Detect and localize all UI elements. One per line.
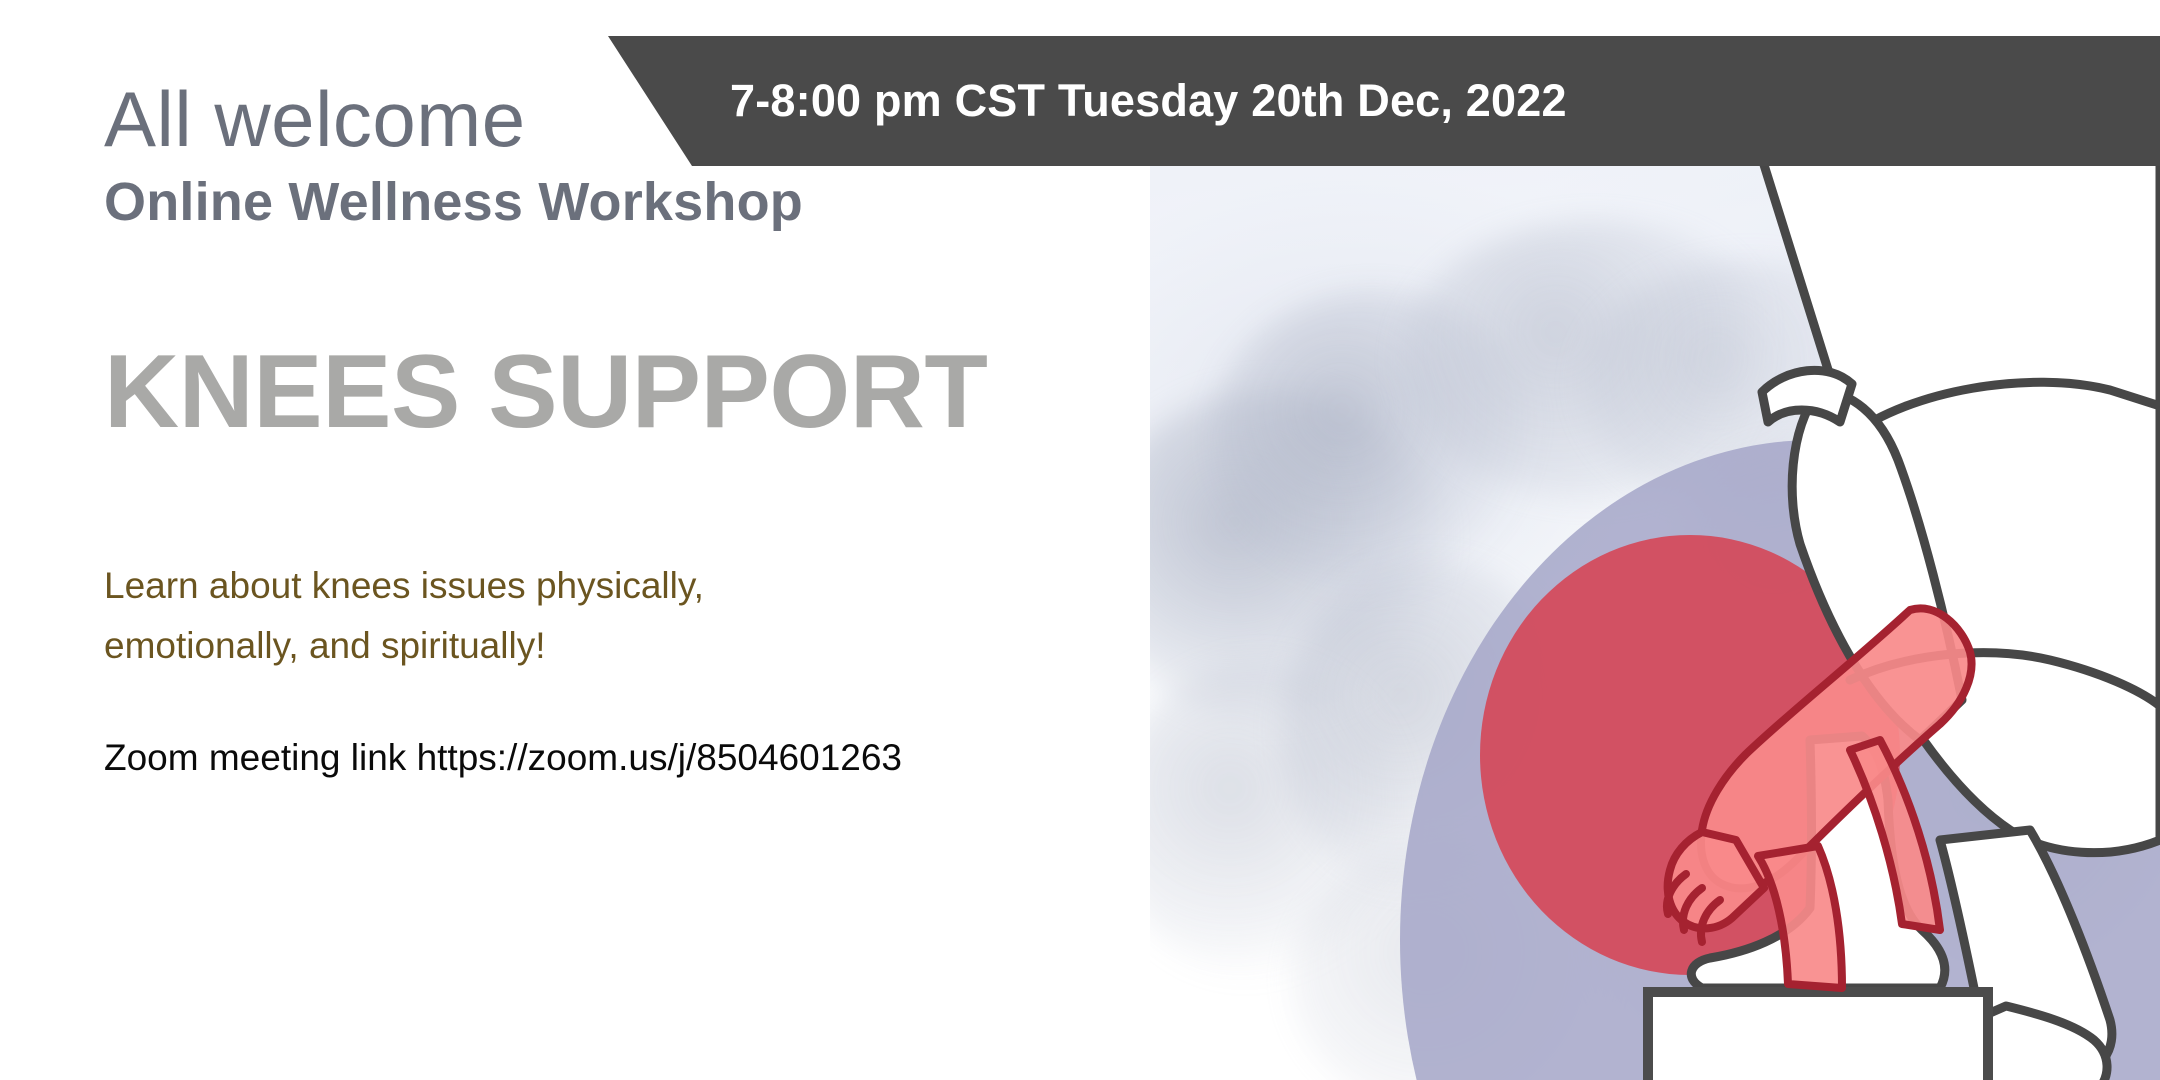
lead-paragraph: Learn about knees issues physically, emo… — [104, 556, 1004, 676]
zoom-meeting-link[interactable]: Zoom meeting link https://zoom.us/j/8504… — [104, 734, 1164, 782]
step-box — [1648, 992, 1988, 1080]
lead-line-1: Learn about knees issues physically, — [104, 565, 704, 606]
illustration-panel — [1150, 140, 2160, 1080]
lead-line-2: emotionally, and spiritually! — [104, 616, 1004, 676]
subtitle-heading: Online Wellness Workshop — [104, 174, 1164, 231]
poster-canvas: 7-8:00 pm CST Tuesday 20th Dec, 2022 All… — [0, 0, 2160, 1080]
text-column: All welcome Online Wellness Workshop KNE… — [104, 80, 1164, 782]
page-title: KNEES SUPPORT — [104, 340, 1164, 444]
eyebrow-heading: All welcome — [104, 80, 1164, 160]
knee-pain-figure-illustration — [1150, 140, 2160, 1080]
